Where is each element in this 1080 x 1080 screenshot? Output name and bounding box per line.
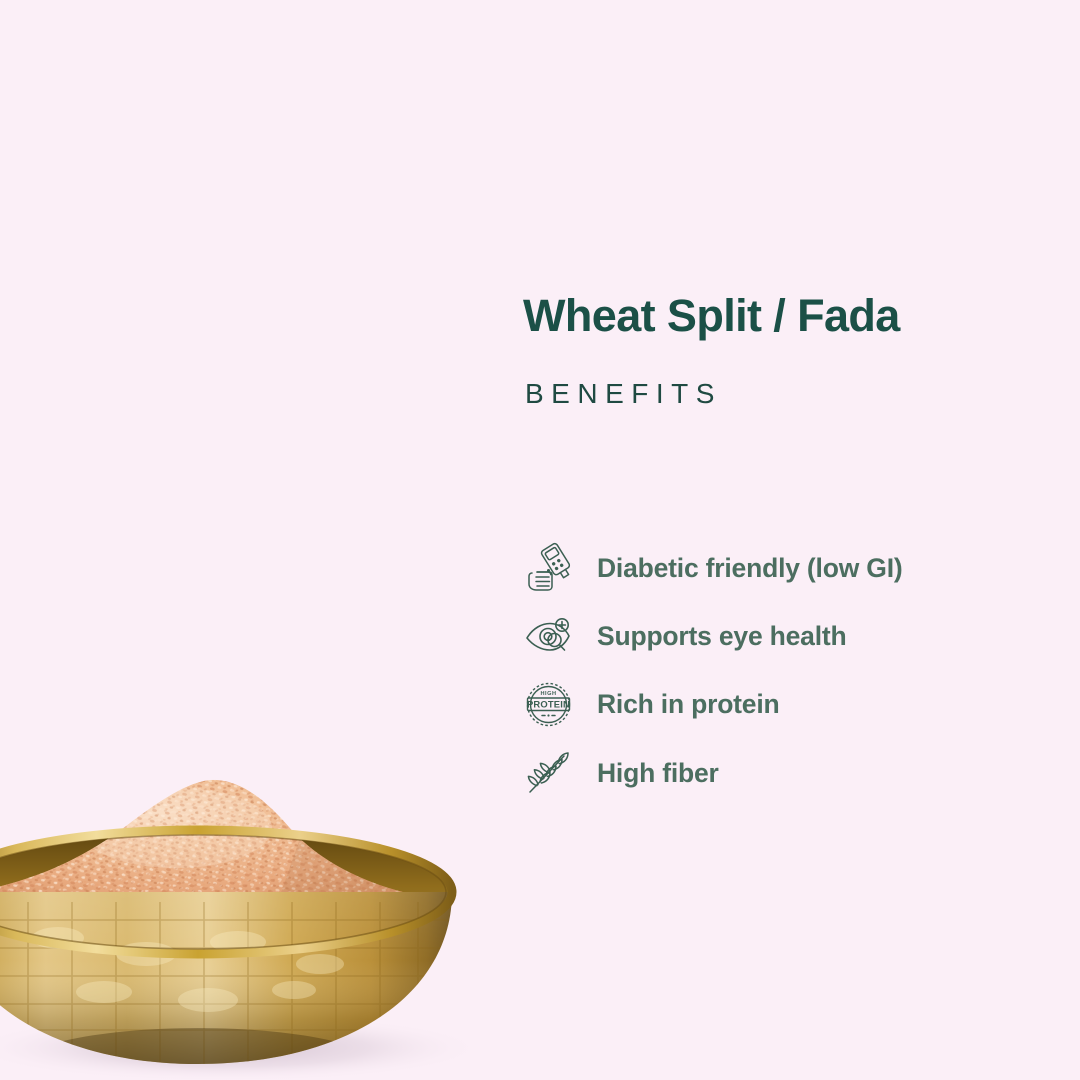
benefit-item-supports-eye-health: Supports eye health [523, 602, 1043, 670]
benefit-item-high-fiber: High fiber [523, 739, 1043, 807]
benefit-label: Supports eye health [597, 621, 846, 652]
page-title: Wheat Split / Fada [523, 292, 900, 341]
benefits-section-heading: BENEFITS [525, 377, 722, 411]
wheat-stalk-icon [521, 746, 576, 801]
benefit-item-diabetic-friendly: Diabetic friendly (low GI) [523, 534, 1043, 602]
glucose-meter-finger-icon [521, 541, 576, 596]
text-panel: Wheat Split / Fada BENEFITS [523, 0, 1043, 1080]
benefit-label: High fiber [597, 758, 719, 789]
product-image-bowl-of-wheat-split [0, 742, 488, 1080]
protein-badge-top-text: HIGH [541, 691, 557, 697]
product-benefits-card: Wheat Split / Fada BENEFITS [0, 0, 1080, 1080]
high-protein-badge-icon: PROTEIN HIGH [521, 677, 576, 732]
eye-magnifier-plus-icon [521, 609, 576, 664]
benefits-list: Diabetic friendly (low GI) [523, 534, 1043, 808]
benefit-label: Rich in protein [597, 689, 780, 720]
protein-badge-main-text: PROTEIN [527, 699, 570, 710]
benefit-label: Diabetic friendly (low GI) [597, 553, 902, 584]
benefit-item-rich-in-protein: PROTEIN HIGH Rich in protein [523, 671, 1043, 739]
